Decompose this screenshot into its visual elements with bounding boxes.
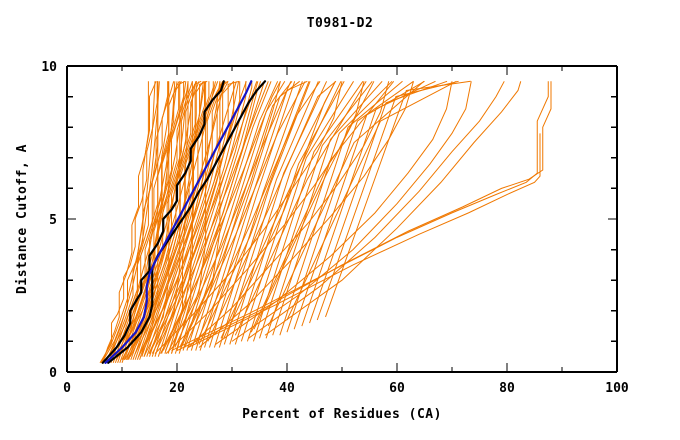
x-tick-label: 80 bbox=[499, 381, 515, 396]
x-tick-label: 40 bbox=[279, 381, 295, 396]
x-axis-label: Percent of Residues (CA) bbox=[242, 407, 442, 422]
ensemble-curve bbox=[107, 81, 177, 359]
y-tick-label: 10 bbox=[41, 60, 57, 75]
x-tick-label: 60 bbox=[389, 381, 405, 396]
ensemble-curve bbox=[235, 81, 366, 335]
ensemble-curve bbox=[326, 81, 471, 317]
x-tick-label: 20 bbox=[169, 381, 185, 396]
y-tick-label: 5 bbox=[49, 213, 57, 228]
y-axis-label: Distance Cutoff, A bbox=[15, 144, 30, 294]
ensemble-curve bbox=[302, 81, 436, 326]
scatter-plot-canvas: 0204060801000510 Percent of Residues (CA… bbox=[0, 0, 680, 440]
y-tick-label: 0 bbox=[49, 366, 57, 381]
x-tick-label: 0 bbox=[63, 381, 71, 396]
plot-screenshot: T0981-D2 0204060801000510 Percent of Res… bbox=[0, 0, 680, 440]
curves-layer bbox=[100, 81, 551, 363]
ensemble-curve bbox=[287, 81, 456, 320]
x-tick-label: 100 bbox=[605, 381, 629, 396]
